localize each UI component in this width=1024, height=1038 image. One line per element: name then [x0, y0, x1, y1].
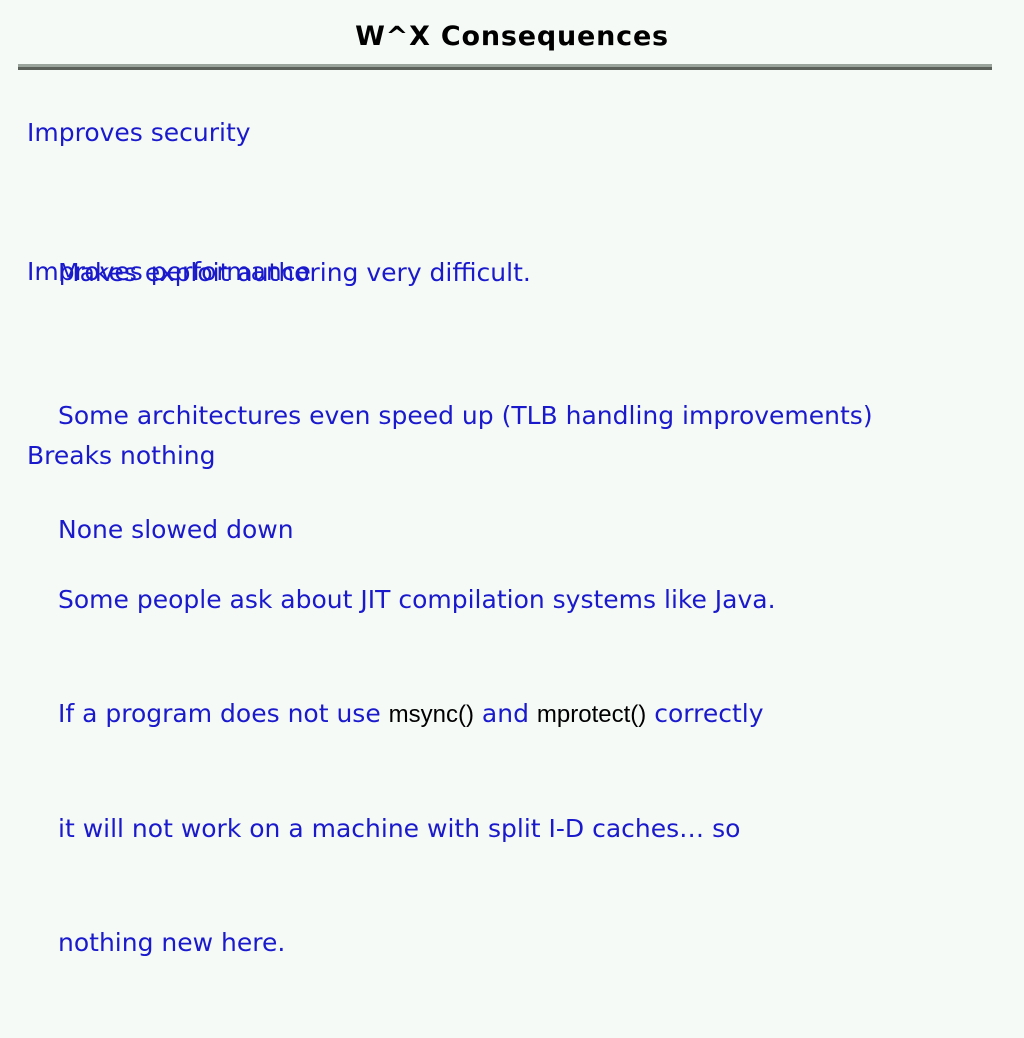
body-line: Some people ask about JIT compilation sy… — [58, 581, 776, 619]
body-line: nothing new here. — [58, 924, 776, 962]
line-text: Some people ask about JIT compilation sy… — [58, 585, 776, 614]
line-text: it will not work on a machine with split… — [58, 814, 740, 843]
body-line: Some architectures even speed up (TLB ha… — [58, 397, 873, 435]
line-text: and — [474, 699, 537, 728]
section-heading-improves-security: Improves security — [27, 120, 251, 145]
section-body-breaks-nothing: Some people ask about JIT compilation sy… — [58, 505, 776, 1038]
code-mprotect: mprotect() — [537, 701, 646, 728]
line-text: If a program does not use — [58, 699, 389, 728]
body-line: it will not work on a machine with split… — [58, 810, 776, 848]
section-heading-improves-performance: Improves performance — [27, 259, 311, 284]
line-text: nothing new here. — [58, 928, 285, 957]
slide-body: Improves security Makes exploit authorin… — [0, 0, 1024, 768]
line-text: Some architectures even speed up (TLB ha… — [58, 401, 873, 430]
body-line: If a program does not use msync() and mp… — [58, 695, 776, 734]
line-text: correctly — [646, 699, 763, 728]
code-msync: msync() — [389, 701, 474, 728]
section-heading-breaks-nothing: Breaks nothing — [27, 443, 215, 468]
slide: W^X Consequences Improves security Makes… — [0, 0, 1024, 768]
